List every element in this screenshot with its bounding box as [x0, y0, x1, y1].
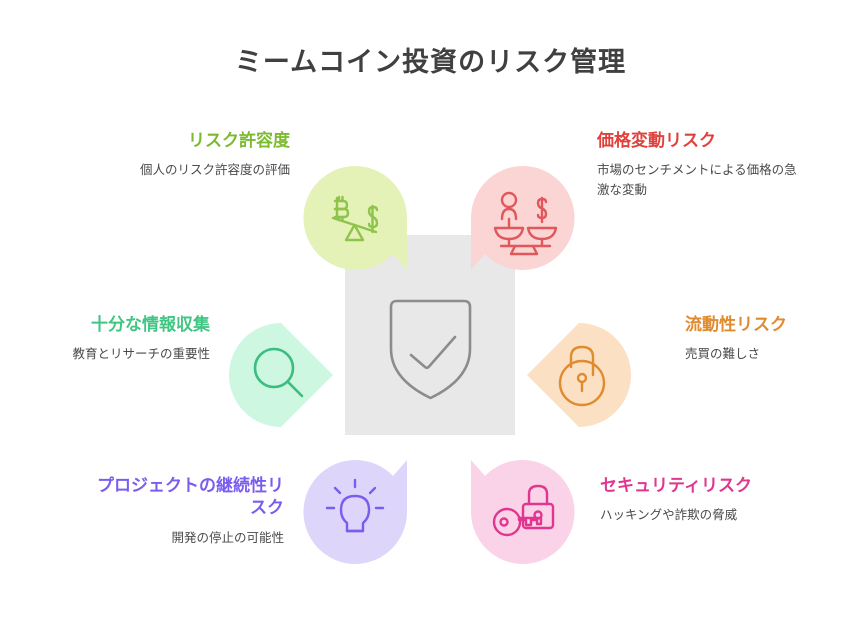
text-block-sufficient-research: 十分な情報収集 教育とリサーチの重要性 — [10, 314, 210, 365]
balance-scale-bitcoin-dollar-icon — [303, 166, 407, 270]
item-title-price-volatility-risk: 価格変動リスク — [597, 130, 797, 152]
item-title-project-continuity-risk: プロジェクトの継続性リスク — [84, 475, 284, 520]
item-description-security-risk: ハッキングや詐欺の脅威 — [600, 506, 800, 525]
item-description-project-continuity-risk: 開発の停止の可能性 — [84, 529, 284, 548]
text-block-liquidity-risk: 流動性リスク 売買の難しさ — [685, 314, 861, 365]
petal-sufficient-research[interactable] — [229, 323, 333, 427]
shield-check-icon — [383, 297, 478, 402]
key-padlock-icon — [471, 460, 575, 564]
petal-price-volatility-risk[interactable] — [471, 166, 575, 270]
item-description-risk-tolerance: 個人のリスク許容度の評価 — [90, 161, 290, 180]
petal-liquidity-risk[interactable] — [527, 323, 631, 427]
text-block-project-continuity-risk: プロジェクトの継続性リスク 開発の停止の可能性 — [84, 475, 284, 548]
item-title-sufficient-research: 十分な情報収集 — [10, 314, 210, 336]
open-padlock-icon — [527, 323, 631, 427]
petal-security-risk[interactable] — [471, 460, 575, 564]
balance-scale-person-dollar-icon — [471, 166, 575, 270]
text-block-price-volatility-risk: 価格変動リスク 市場のセンチメントによる価格の急激な変動 — [597, 130, 797, 200]
item-title-risk-tolerance: リスク許容度 — [90, 130, 290, 152]
lightbulb-icon — [303, 460, 407, 564]
item-description-liquidity-risk: 売買の難しさ — [685, 345, 861, 364]
petal-risk-tolerance[interactable] — [303, 166, 407, 270]
infographic-canvas: ミームコイン投資のリスク管理 — [0, 0, 861, 636]
item-title-liquidity-risk: 流動性リスク — [685, 314, 861, 336]
petal-project-continuity-risk[interactable] — [303, 460, 407, 564]
magnifying-glass-icon — [229, 323, 333, 427]
item-description-price-volatility-risk: 市場のセンチメントによる価格の急激な変動 — [597, 161, 797, 200]
text-block-risk-tolerance: リスク許容度 個人のリスク許容度の評価 — [90, 130, 290, 181]
item-title-security-risk: セキュリティリスク — [600, 475, 800, 497]
item-description-sufficient-research: 教育とリサーチの重要性 — [10, 345, 210, 364]
page-title: ミームコイン投資のリスク管理 — [0, 40, 861, 79]
text-block-security-risk: セキュリティリスク ハッキングや詐欺の脅威 — [600, 475, 800, 526]
